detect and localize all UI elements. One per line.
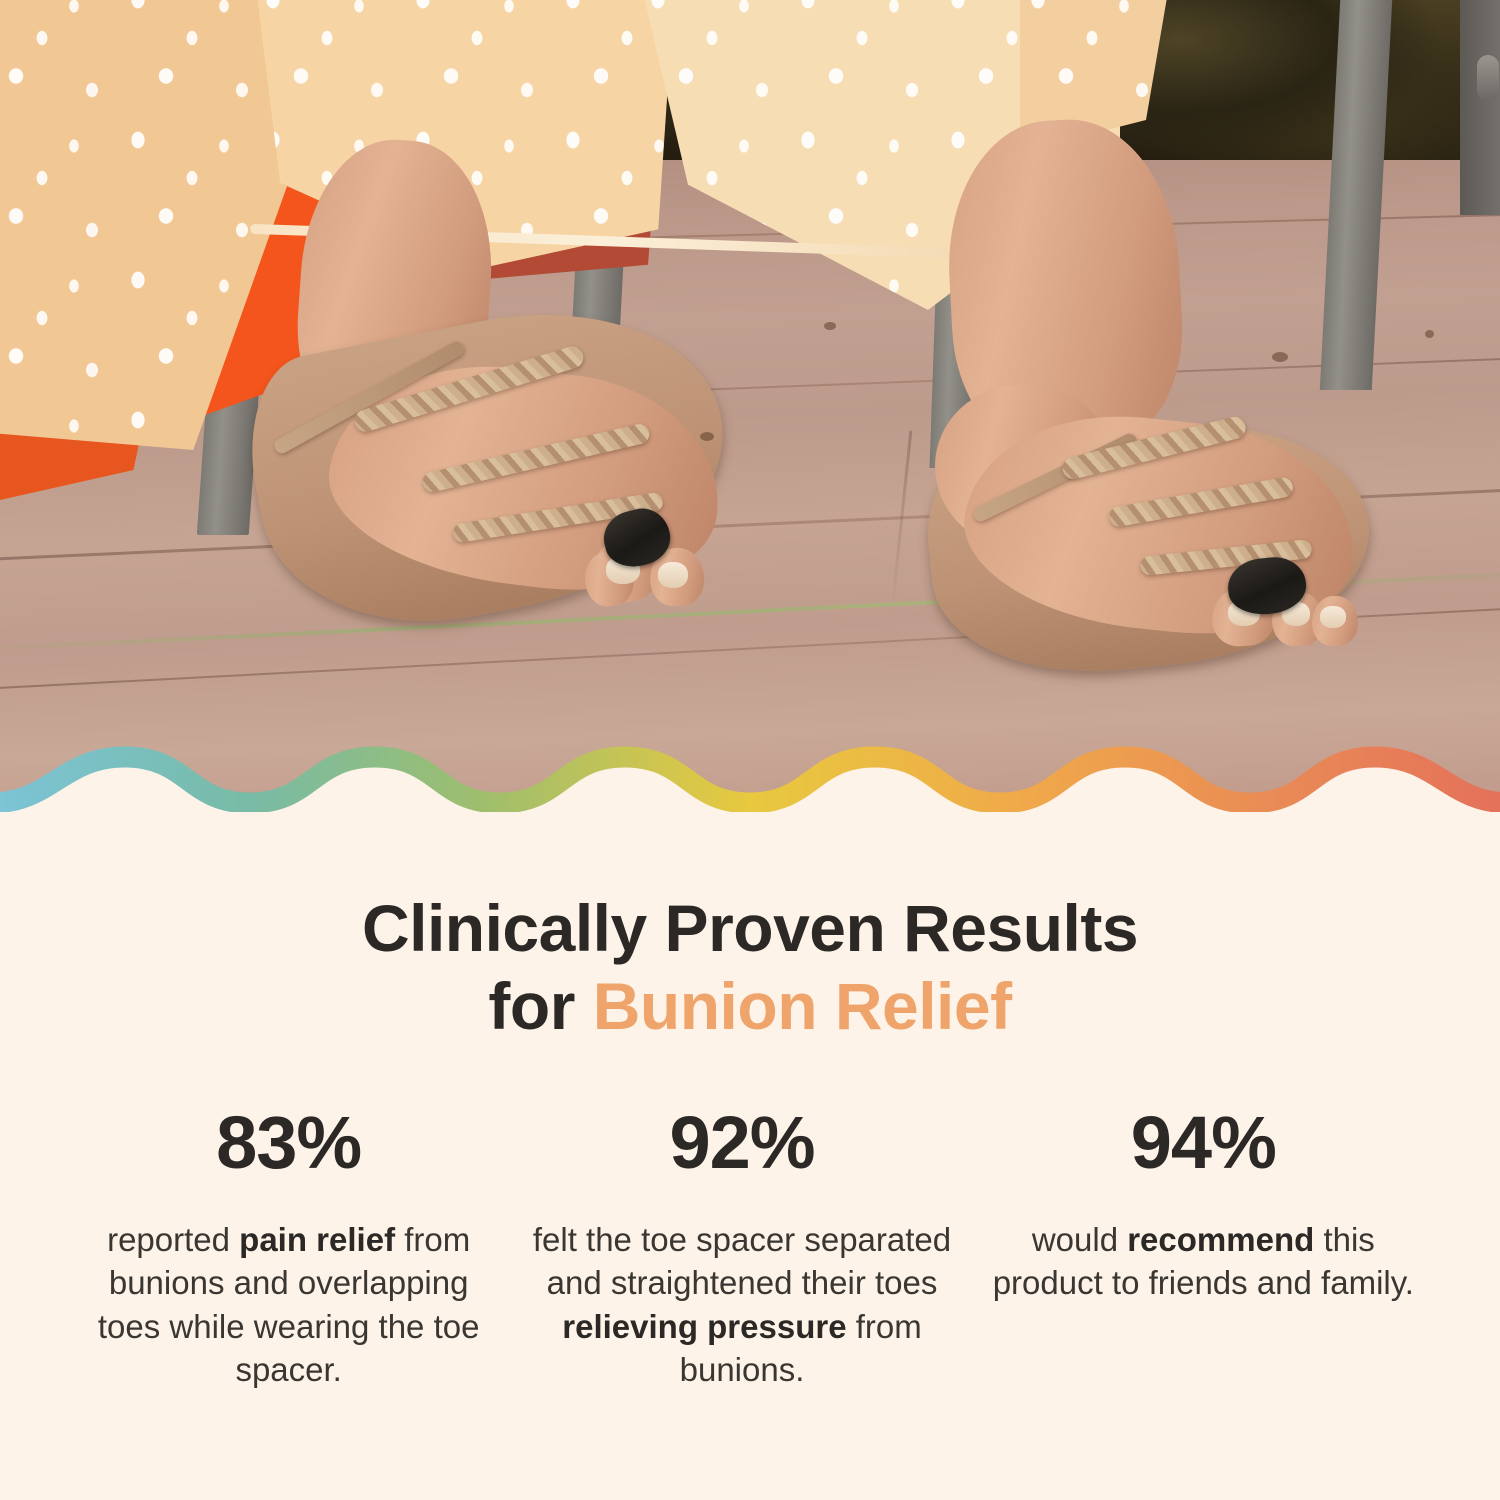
page-title: Clinically Proven Results for Bunion Rel… — [0, 812, 1500, 1046]
headline-line-2-accent: Bunion Relief — [593, 969, 1012, 1043]
headline-line-1: Clinically Proven Results — [362, 891, 1138, 965]
stat-card: 94% would recommend this product to frie… — [959, 1106, 1448, 1392]
deck-debris — [1272, 352, 1288, 362]
marketing-infographic: Clinically Proven Results for Bunion Rel… — [0, 0, 1500, 1500]
toenail — [1320, 606, 1346, 628]
results-section: Clinically Proven Results for Bunion Rel… — [0, 812, 1500, 1500]
stat-card: 83% reported pain relief from bunions an… — [52, 1106, 525, 1392]
stat-card: 92% felt the toe spacer separated and st… — [525, 1106, 958, 1392]
statistics-row: 83% reported pain relief from bunions an… — [0, 1046, 1500, 1392]
deck-debris — [1425, 330, 1434, 338]
wave-ribbon — [0, 757, 1500, 803]
toenail — [658, 562, 688, 588]
lifestyle-photo — [0, 0, 1500, 812]
stat-value: 94% — [993, 1106, 1414, 1180]
stat-description: would recommend this product to friends … — [993, 1218, 1414, 1305]
deck-debris — [824, 322, 836, 330]
furniture-leg — [1460, 0, 1500, 215]
stat-description: felt the toe spacer separated and straig… — [531, 1218, 952, 1392]
stat-description: reported pain relief from bunions and ov… — [78, 1218, 499, 1392]
stat-value: 92% — [531, 1106, 952, 1180]
stat-value: 83% — [78, 1106, 499, 1180]
furniture-hardware — [1477, 55, 1499, 101]
deck-debris — [700, 432, 714, 441]
headline-line-2-prefix: for — [488, 969, 592, 1043]
